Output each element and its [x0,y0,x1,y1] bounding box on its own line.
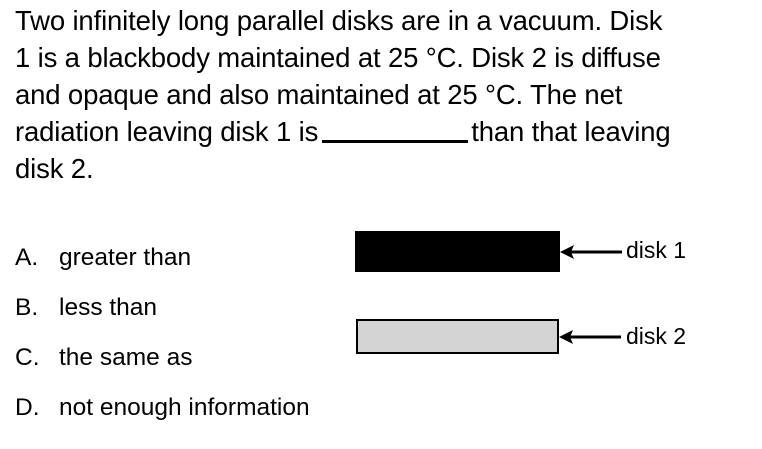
option-d-label: not enough information [59,383,310,433]
question-stem: Two infinitely long parallel disks are i… [15,2,753,187]
option-b-label: less than [59,283,157,333]
answer-blank [322,140,468,143]
question-line-4-after-blank: than that leaving [471,116,670,147]
option-a-letter: A. [15,233,59,283]
question-line-4: radiation leaving disk 1 isthan that lea… [15,113,753,150]
question-line-3: and opaque and also maintained at 25 °C.… [15,76,753,113]
question-line-1: Two infinitely long parallel disks are i… [15,2,753,39]
option-b-letter: B. [15,283,59,333]
option-a[interactable]: A. greater than [15,233,310,283]
answer-options-list: A. greater than B. less than C. the same… [15,233,310,433]
disk-2-label: disk 2 [626,325,686,348]
disk-1-label: disk 1 [626,239,686,262]
question-line-4-before-blank: radiation leaving disk 1 is [15,116,318,147]
arrow-left-icon [558,241,624,263]
disk-1-rectangle [355,231,560,272]
option-a-label: greater than [59,233,191,283]
question-line-2: 1 is a blackbody maintained at 25 °C. Di… [15,39,753,76]
arrow-left-icon [557,326,623,348]
option-d[interactable]: D. not enough information [15,383,310,433]
option-c[interactable]: C. the same as [15,333,310,383]
question-line-5: disk 2. [15,150,753,187]
option-b[interactable]: B. less than [15,283,310,333]
option-d-letter: D. [15,383,59,433]
option-c-letter: C. [15,333,59,383]
option-c-label: the same as [59,333,192,383]
disk-2-rectangle [356,319,559,354]
